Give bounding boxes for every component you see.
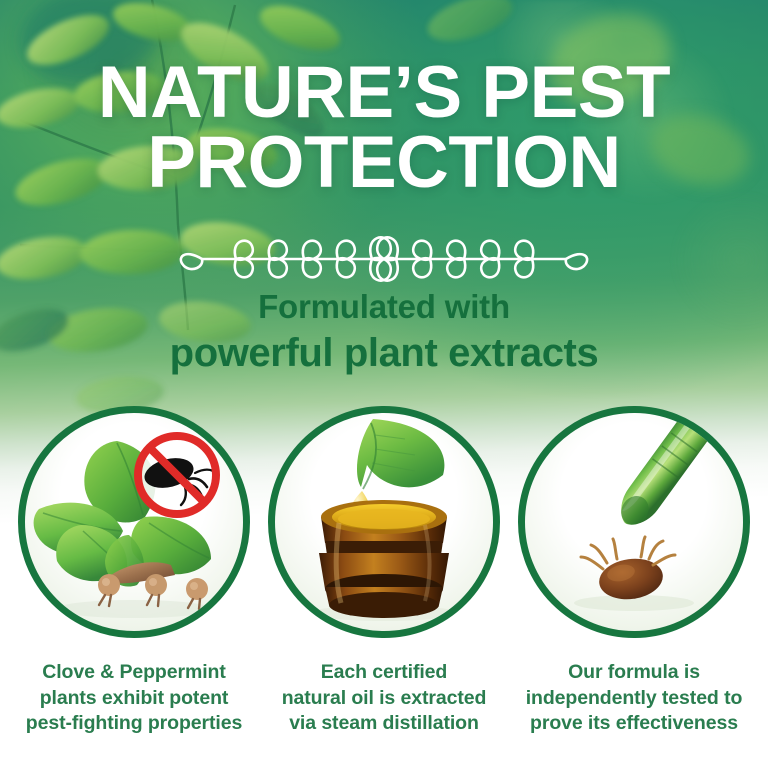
oil-bottle-leaf-drop-icon [275,413,493,631]
circle-image-independently-tested [518,406,750,638]
infographic-poster: NATURE’S PEST PROTECTION [0,0,768,768]
caption-line-3: prove its effectiveness [526,711,743,737]
circle-image-clove-peppermint [18,406,250,638]
caption-steam-distillation: Each certified natural oil is extracted … [282,660,487,737]
caption-line-3: via steam distillation [282,711,487,737]
benefit-card-clove-peppermint: Clove & Peppermint plants exhibit potent… [18,406,250,737]
caption-independently-tested: Our formula is independently tested to p… [526,660,743,737]
caption-line-2: independently tested to [526,686,743,712]
circle-image-steam-distillation [268,406,500,638]
caption-clove-peppermint: Clove & Peppermint plants exhibit potent… [26,660,242,737]
peppermint-cloves-no-pest-icon [25,413,243,631]
caption-line-2: natural oil is extracted [282,686,487,712]
caption-line-1: Our formula is [526,660,743,686]
caption-line-2: plants exhibit potent [26,686,242,712]
benefit-card-independently-tested: Our formula is independently tested to p… [518,406,750,737]
caption-line-1: Each certified [282,660,487,686]
caption-line-1: Clove & Peppermint [26,660,242,686]
benefit-cards: Clove & Peppermint plants exhibit potent… [0,406,768,737]
benefit-card-steam-distillation: Each certified natural oil is extracted … [268,406,500,737]
caption-line-3: pest-fighting properties [26,711,242,737]
dropper-pipette-tick-icon [525,413,743,631]
